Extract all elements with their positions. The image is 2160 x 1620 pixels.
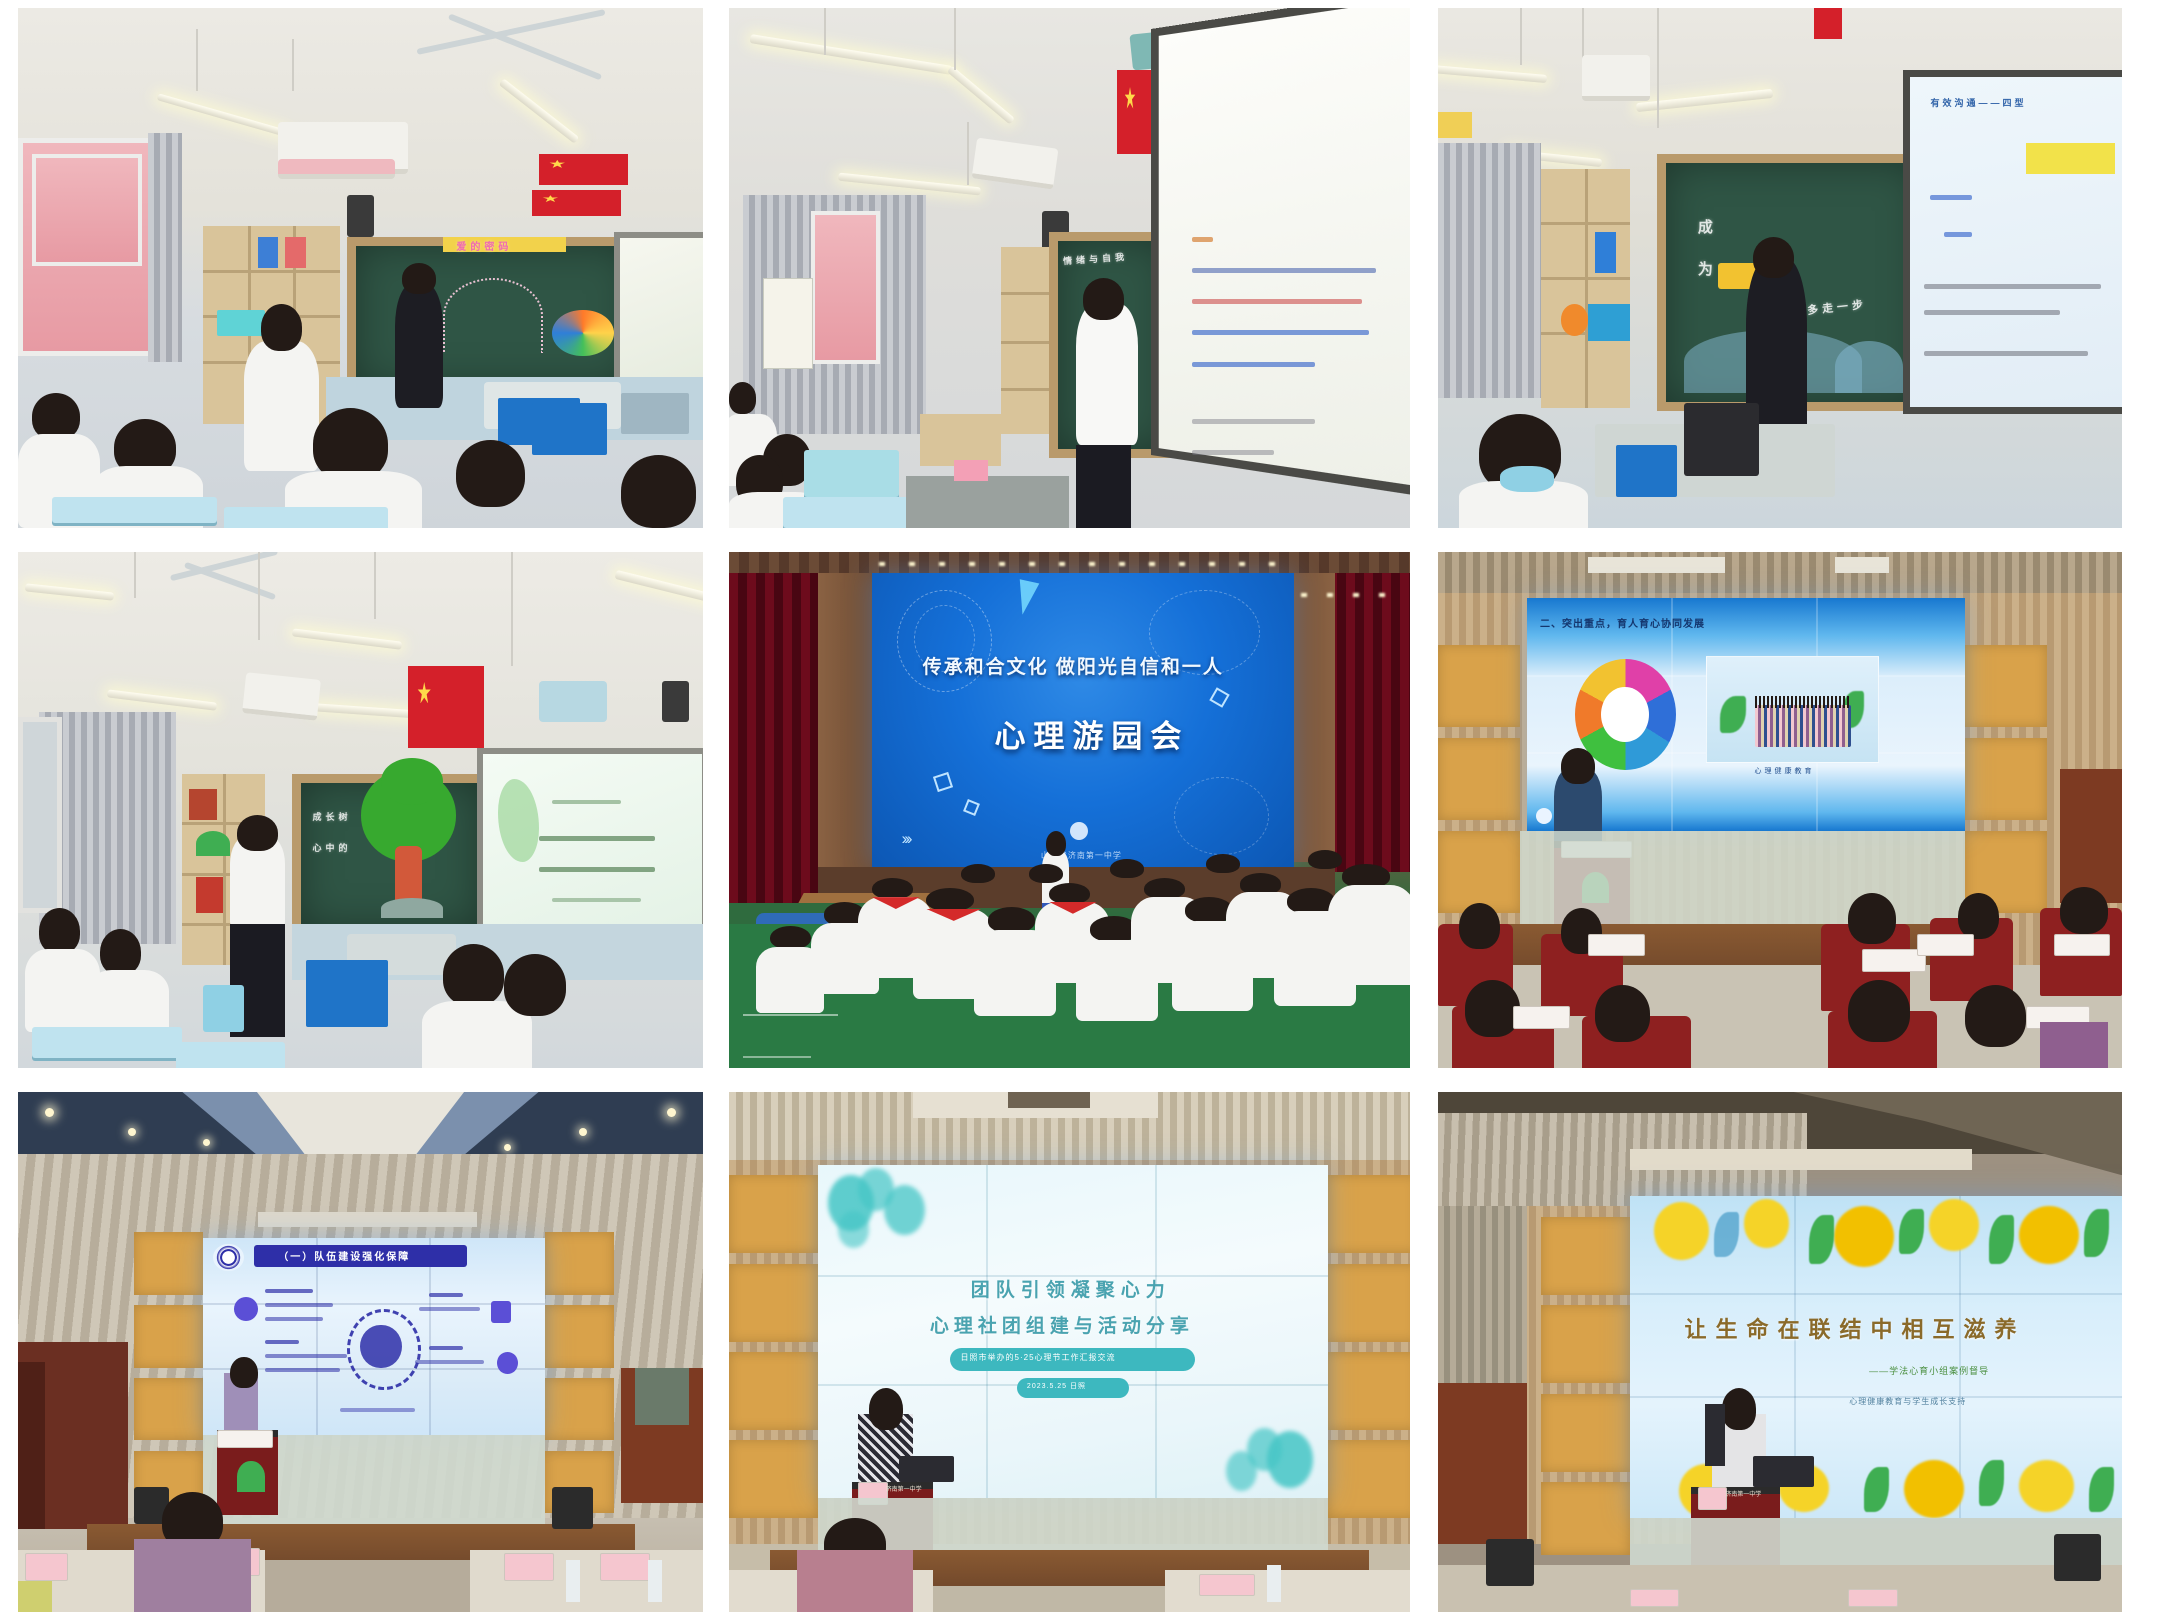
led-screen-psych-fair: ››› 传承和合文化 做阳光自信和一人 心理游园会 山东省济南第一中学 [872, 573, 1294, 867]
photo-middle-center: ››› 传承和合文化 做阳光自信和一人 心理游园会 山东省济南第一中学 [729, 552, 1410, 1068]
bc-slide-sub: 日照市举办的5·25心理节工作汇报交流 [961, 1352, 1116, 1363]
led-title-line1: 传承和合文化 做阳光自信和一人 [923, 652, 1224, 679]
collage-cell-top-left[interactable]: 爱的密码 [0, 0, 713, 540]
br-slide-sub2: 心理健康教育与学生成长支持 [1849, 1396, 1966, 1407]
collage-cell-bottom-center[interactable]: 团队引领凝聚心力 心理社团组建与活动分享 日照市举办的5·25心理节工作汇报交流… [713, 1080, 1426, 1620]
led-title-line2: 心理游园会 [994, 711, 1189, 756]
bl-slide-title: （一）队伍建设强化保障 [278, 1248, 410, 1263]
photo-middle-left: 成长树 心中的 [18, 552, 703, 1068]
bc-slide-date: 2023.5.25 日照 [1027, 1381, 1086, 1391]
photo-top-left: 爱的密码 [18, 8, 703, 528]
collage-cell-middle-center[interactable]: ››› 传承和合文化 做阳光自信和一人 心理游园会 山东省济南第一中学 [713, 540, 1426, 1080]
bc-slide-title-2: 心理社团组建与活动分享 [930, 1311, 1194, 1338]
collage-cell-bottom-right[interactable]: 让生命在联结中相互滋养 ——学法心育小组案例督导 心理健康教育与学生成长支持 济… [1426, 1080, 2140, 1620]
photo-bottom-right: 让生命在联结中相互滋养 ——学法心育小组案例督导 心理健康教育与学生成长支持 济… [1438, 1092, 2122, 1612]
br-slide-title: 让生命在联结中相互滋养 [1684, 1312, 2025, 1344]
collage-cell-middle-right[interactable]: 二、突出重点，育人育心协同发展 心理健康教育 [1426, 540, 2140, 1080]
bc-podium-text: 济南第一中学 [886, 1484, 922, 1493]
bc-slide-title-1: 团队引领凝聚心力 [971, 1275, 1171, 1302]
br-podium-text: 济南第一中学 [1725, 1489, 1761, 1498]
photo-bottom-left: （一）队伍建设强化保障 [18, 1092, 703, 1612]
collage-cell-bottom-left[interactable]: （一）队伍建设强化保障 [0, 1080, 713, 1620]
led-screen-bottom-right: 让生命在联结中相互滋养 ——学法心育小组案例督导 心理健康教育与学生成长支持 [1630, 1196, 2122, 1518]
photo-bottom-center: 团队引领凝聚心力 心理社团组建与活动分享 日照市举办的5·25心理节工作汇报交流… [729, 1092, 1410, 1612]
photo-collage-grid: 爱的密码 [0, 0, 2160, 1620]
br-slide-sub: ——学法心育小组案例督导 [1869, 1364, 1989, 1377]
collage-cell-top-center[interactable]: 情绪与自我 心理课 — 教师讲解投影课件 [713, 0, 1426, 540]
photo-middle-right: 二、突出重点，育人育心协同发展 心理健康教育 [1438, 552, 2122, 1068]
report-slide-title: 二、突出重点，育人育心协同发展 [1540, 615, 1705, 630]
collage-cell-top-right[interactable]: 成 为 多走一步 有效沟通——四型 心理课 — 成为更好的 [1426, 0, 2140, 540]
photo-top-center: 情绪与自我 心理课 — 教师讲解投影课件 [729, 8, 1410, 528]
collage-cell-middle-left[interactable]: 成长树 心中的 [0, 540, 713, 1080]
photo-top-right: 成 为 多走一步 有效沟通——四型 心理课 — 成为更好的 [1438, 8, 2122, 528]
report-slide-caption: 心理健康教育 [1755, 766, 1815, 776]
